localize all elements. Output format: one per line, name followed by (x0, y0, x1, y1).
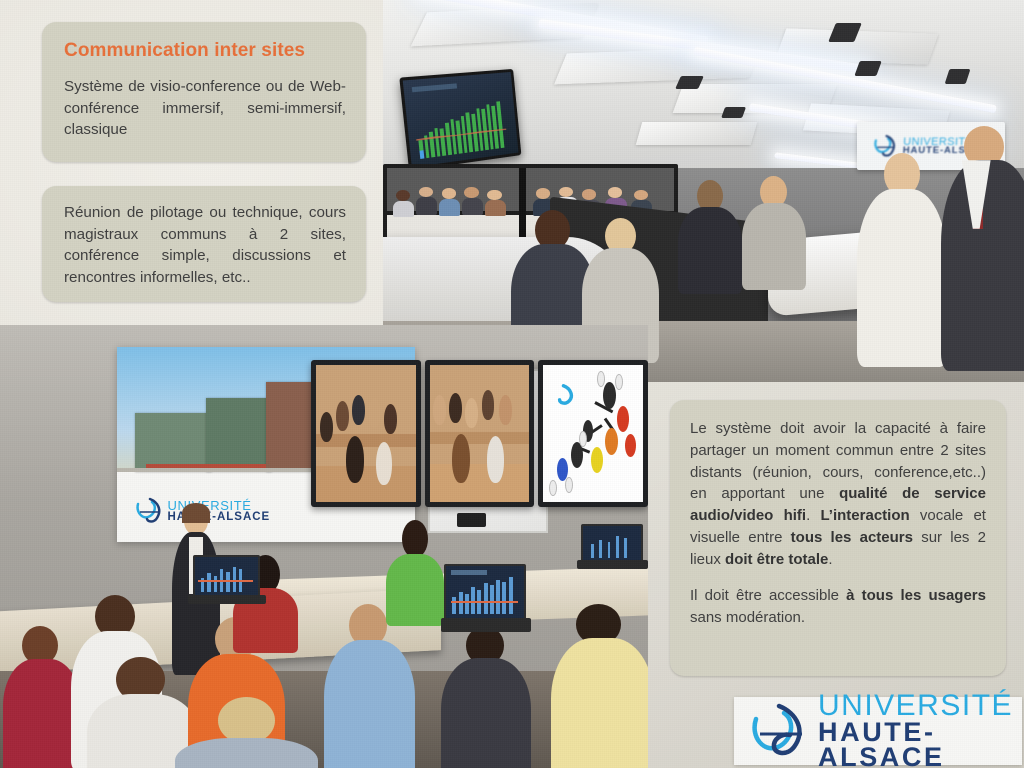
display-remote-classroom-2 (425, 360, 535, 506)
laptop[interactable] (441, 564, 532, 639)
video-conference-displays (311, 360, 648, 506)
atom-hydrogen (579, 431, 587, 447)
attendee (742, 176, 806, 291)
laptop[interactable] (577, 524, 648, 577)
uha-monogram (547, 379, 581, 409)
atom-hydrogen (597, 371, 605, 387)
uha-monogram-icon (748, 703, 810, 759)
uha-monogram (135, 497, 165, 524)
atom-sulfur (591, 447, 603, 473)
atom-phosphorus (605, 428, 618, 455)
req-bold: tous les acteurs (791, 529, 913, 546)
atom-carbon (603, 382, 616, 409)
projected-uha-logo: UNIVERSITÉ HAUTE-ALSACE (135, 486, 314, 537)
card-requirements: Le système doit avoir la capacité à fair… (670, 400, 1006, 676)
req-text: sans modération. (690, 609, 805, 626)
campus-building (206, 398, 272, 472)
student (175, 697, 318, 768)
logo-line-universite: UNIVERSITÉ (818, 692, 1022, 720)
student (324, 604, 415, 768)
student (386, 520, 444, 626)
campus-building (135, 413, 213, 471)
display-remote-classroom-1 (311, 360, 421, 506)
requirements-paragraph-2: Il doit être accessible à tous les usage… (690, 585, 986, 629)
req-text: . (806, 507, 820, 524)
atom-oxygen (617, 406, 629, 432)
card-usage: Réunion de pilotage ou technique, cours … (42, 186, 366, 302)
slide-canvas: UNIVERSITÉ HAUTE-ALSACE (0, 0, 1024, 768)
conference-camera (457, 513, 486, 526)
req-text: Il doit être accessible (690, 587, 846, 604)
atom-oxygen (625, 434, 636, 457)
campus-building (266, 382, 317, 472)
attendee (941, 126, 1024, 370)
photo-classroom: UNIVERSITÉ HAUTE-ALSACE (0, 325, 648, 768)
page-title: Communication inter sites (64, 40, 346, 62)
atom-hydrogen (615, 374, 623, 390)
title-card-body: Système de visio-conference ou de Web-co… (64, 76, 346, 141)
req-bold: L’interaction (820, 507, 909, 524)
ceiling-vent (721, 107, 746, 118)
attendee (857, 153, 947, 367)
usage-card-body: Réunion de pilotage ou technique, cours … (64, 202, 346, 288)
req-text: . (828, 551, 832, 568)
req-bold: à tous les usagers (846, 587, 986, 604)
laptop[interactable] (188, 555, 266, 613)
card-communication-inter-sites: Communication inter sites Système de vis… (42, 22, 366, 162)
requirements-paragraph-1: Le système doit avoir la capacité à fair… (690, 418, 986, 570)
display-molecule (538, 360, 648, 506)
student (441, 626, 532, 768)
student (3, 626, 81, 768)
ceiling-panel (636, 122, 758, 145)
atom-hydrogen (565, 477, 573, 493)
req-bold: doit être totale (725, 551, 828, 568)
logo-line-haute-alsace: HAUTE-ALSACE (818, 720, 1022, 768)
attendee (678, 180, 742, 295)
uha-logo: UNIVERSITÉ HAUTE-ALSACE (734, 697, 1022, 765)
data-chart-display (399, 68, 521, 170)
atom-hydrogen (549, 480, 557, 496)
student (551, 604, 648, 768)
